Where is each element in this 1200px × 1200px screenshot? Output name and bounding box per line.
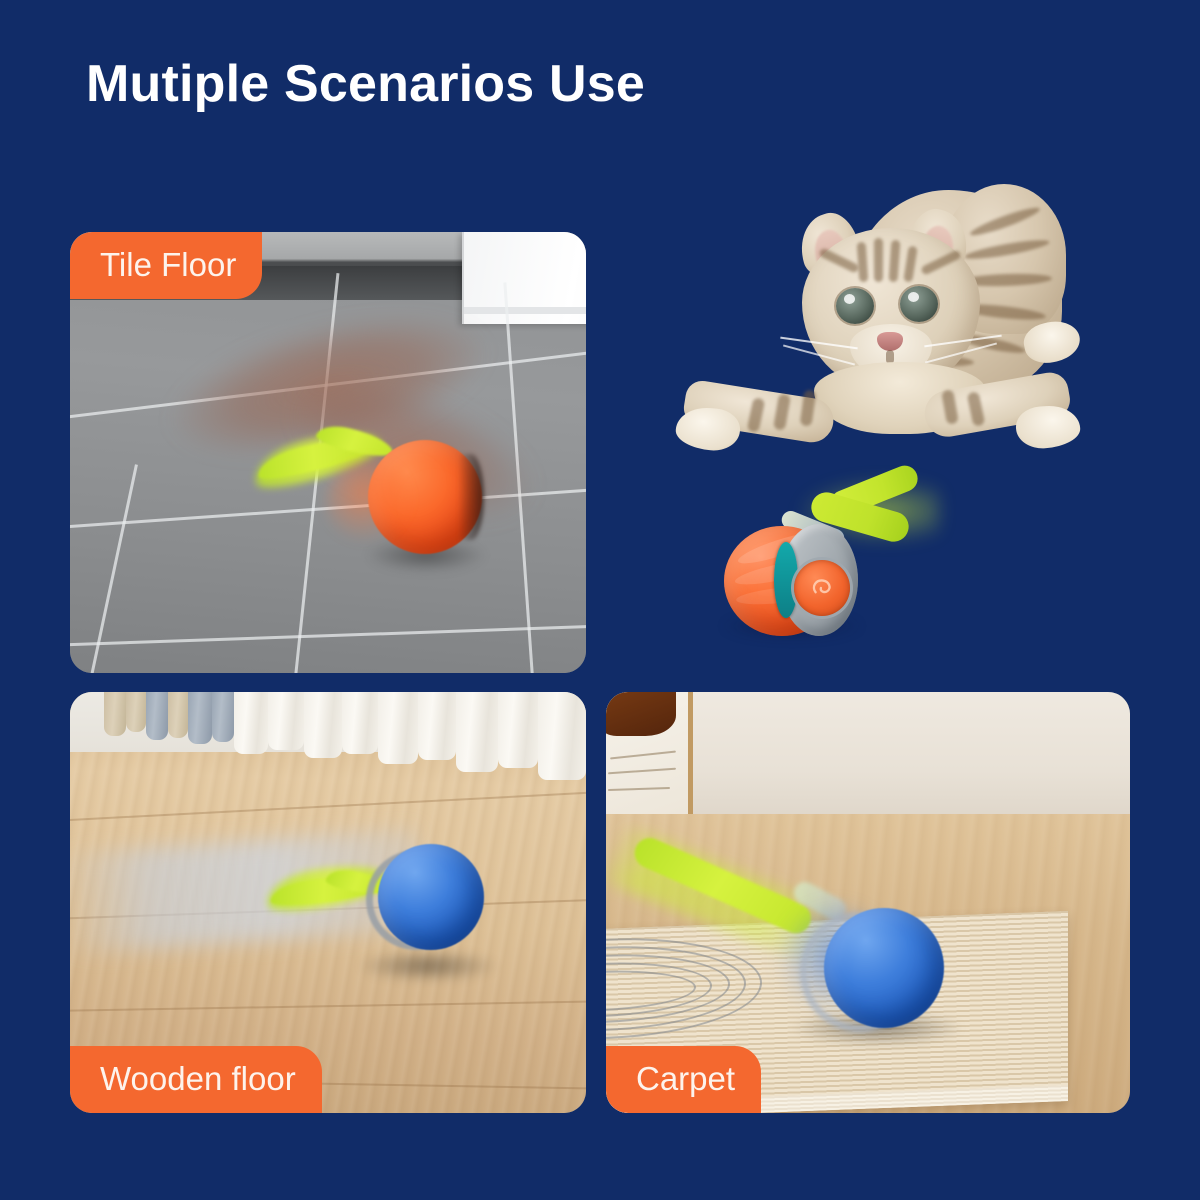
ball-motion-ghost	[326, 460, 410, 544]
curtain-panel	[304, 692, 342, 758]
cat-eye-left	[836, 288, 874, 324]
scenario-panel-tile: Tile Floor	[70, 232, 586, 673]
curtain-panel	[342, 692, 378, 754]
picture-detail-line	[608, 768, 676, 775]
curtain-panel	[498, 692, 538, 768]
page-title: Mutiple Scenarios Use	[86, 56, 645, 113]
badge-wooden-floor: Wooden floor	[70, 1046, 322, 1113]
cat-eye-right	[900, 286, 938, 322]
curtain-panel	[126, 692, 146, 732]
curtain-panel	[168, 692, 188, 738]
poster-root: Mutiple Scenarios Use	[0, 0, 1200, 1200]
curtain-panel	[188, 692, 212, 744]
cat-forehead-stripe	[874, 238, 883, 282]
ball-shadow	[358, 950, 498, 982]
picture-detail-line	[610, 751, 676, 760]
swirl-logo-icon	[805, 571, 839, 605]
badge-tile-floor: Tile Floor	[70, 232, 262, 299]
picture-detail-line	[608, 787, 670, 791]
curtain-panel	[378, 692, 418, 764]
cat-eye-right-highlight	[908, 292, 919, 302]
curtain-panel	[146, 692, 168, 740]
cat-eye-left-highlight	[844, 294, 855, 304]
curtain-panel	[268, 692, 304, 750]
curtain-panel	[418, 692, 456, 760]
cat-paw-right	[1015, 404, 1082, 450]
scenario-panel-carpet: Carpet	[606, 692, 1130, 1113]
ball-power-button[interactable]	[794, 560, 850, 616]
curtain-panel	[212, 692, 234, 742]
cat-ball-toy	[824, 908, 944, 1028]
hero-product-toy	[710, 472, 930, 644]
scenario-panel-wooden-floor: Wooden floor	[70, 692, 586, 1113]
curtain-panel	[234, 692, 268, 754]
curtain-panel	[456, 692, 498, 772]
badge-carpet: Carpet	[606, 1046, 761, 1113]
ball-dark-band	[458, 454, 484, 540]
framed-picture	[606, 692, 693, 833]
cat-ball-toy	[378, 844, 484, 950]
curtain-panel	[538, 692, 586, 780]
kitten-illustration	[672, 176, 1092, 474]
curtain-panel	[104, 692, 126, 736]
